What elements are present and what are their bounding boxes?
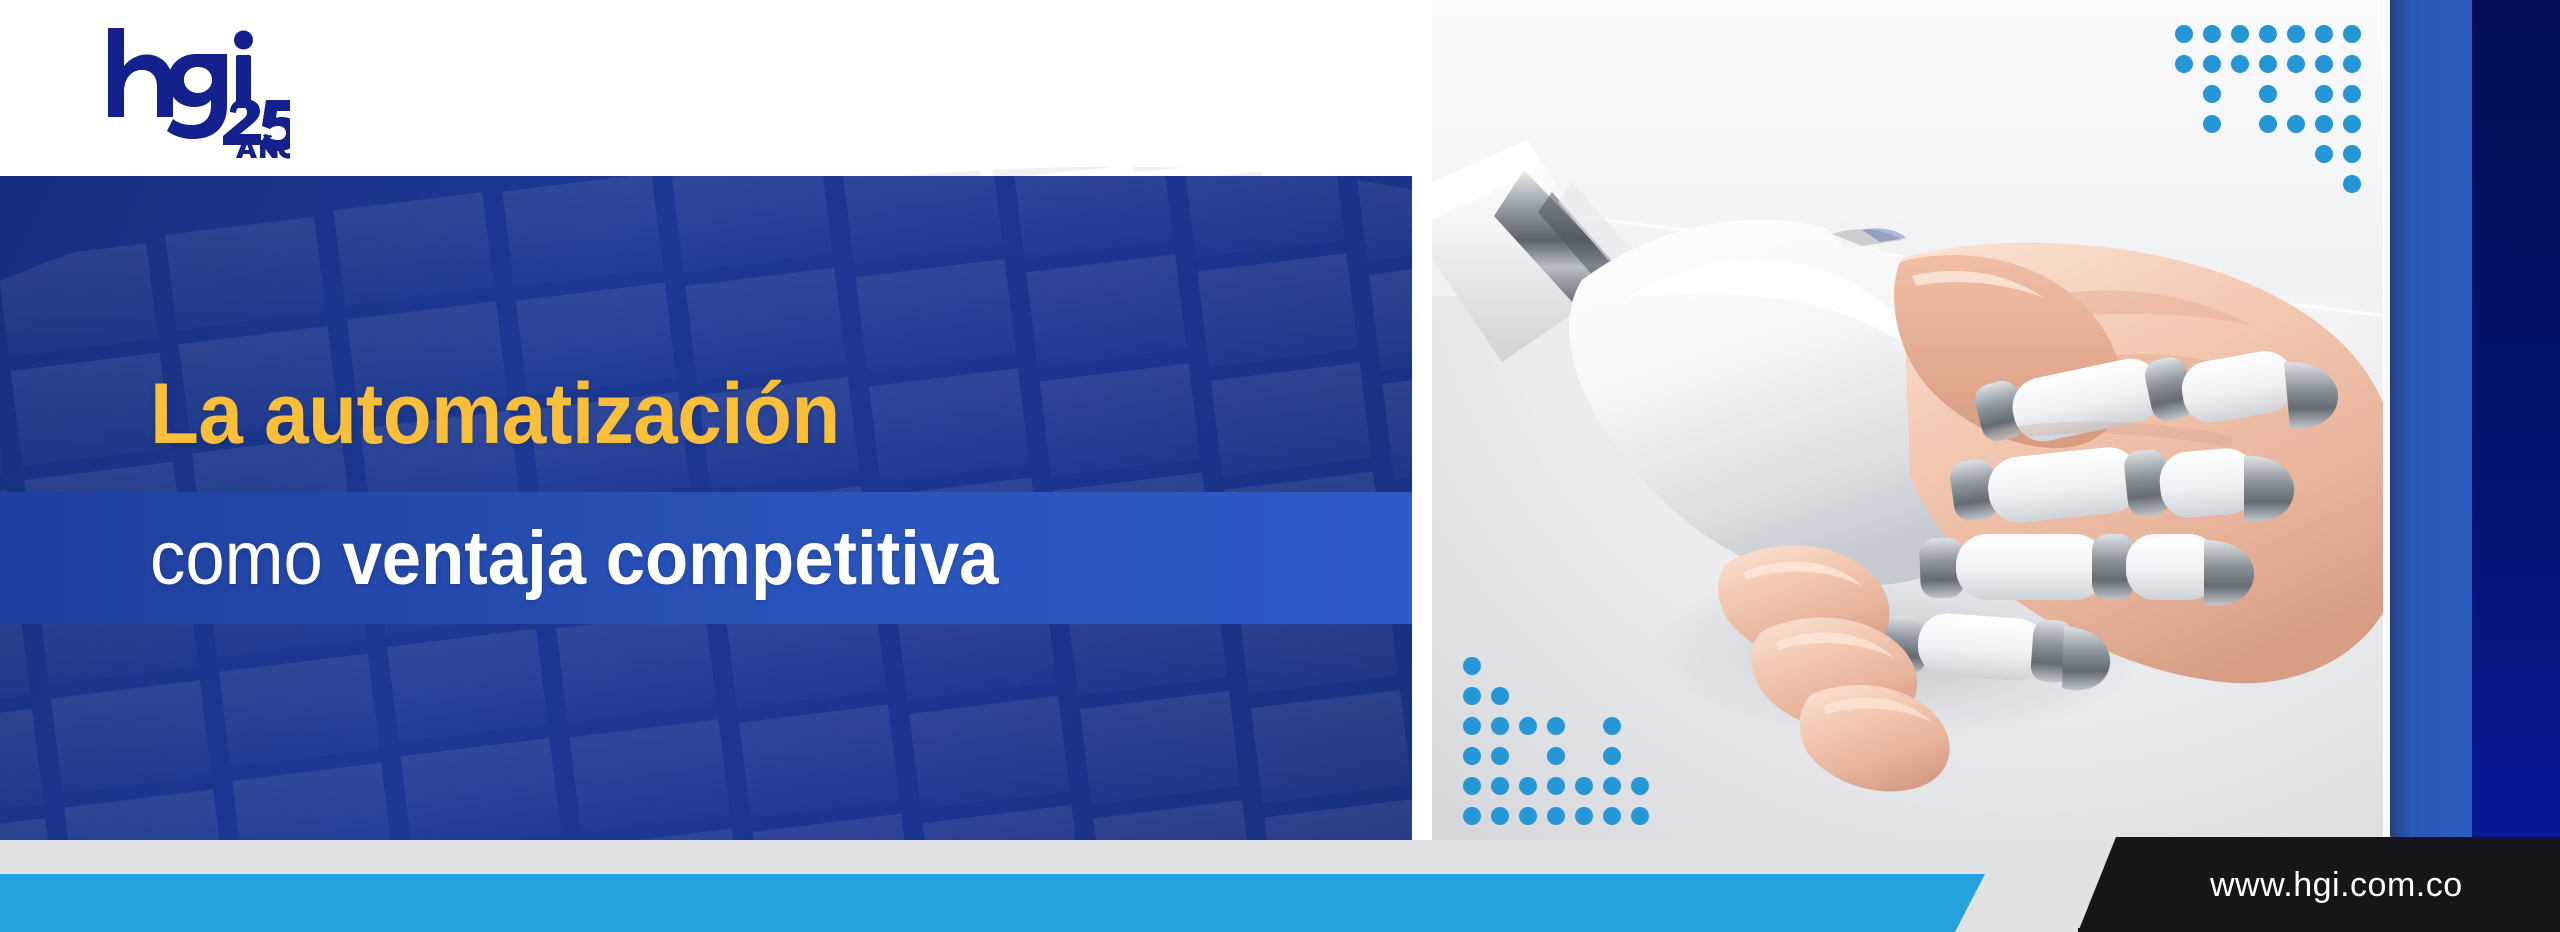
dot-matrix-top-icon [2172, 22, 2362, 222]
website-url[interactable]: www.hgi.com.co [2210, 866, 2463, 905]
dot-matrix-bottom-icon [1460, 654, 1660, 854]
header-strip [0, 0, 1412, 176]
headline-block: La automatización como ventaja competiti… [150, 366, 1380, 462]
banner: La automatización como ventaja competiti… [0, 0, 2560, 932]
headline-line-1: La automatización [150, 366, 1294, 462]
accent-strip-blue [2390, 0, 2472, 872]
accent-strip-navy [2472, 0, 2560, 872]
background-motif-header [480, 92, 1412, 176]
blue-content-panel: La automatización como ventaja competiti… [0, 176, 1412, 841]
hero-photo [1432, 0, 2390, 872]
headline-line-2: como ventaja competitiva [150, 516, 998, 602]
left-column: La automatización como ventaja competiti… [0, 0, 1412, 932]
footer: www.hgi.com.co [0, 840, 2560, 932]
panel-photo-gap [1412, 0, 1432, 932]
headline-line-2-bold: ventaja competitiva [342, 516, 998, 601]
headline-line-2-regular: como [150, 516, 342, 601]
footer-cyan-band [0, 874, 1985, 932]
hgi-logo[interactable] [100, 22, 290, 162]
